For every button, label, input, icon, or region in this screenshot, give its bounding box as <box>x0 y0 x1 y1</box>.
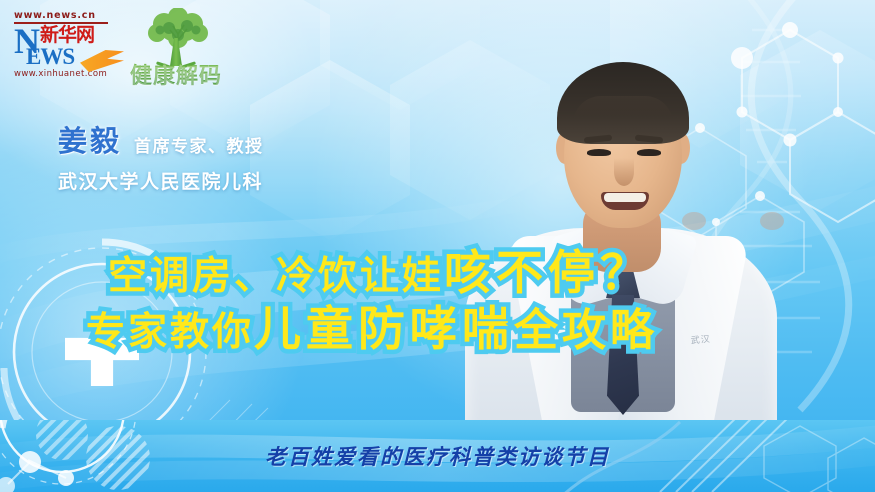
tagline: 老百姓爱看的医疗科普类访谈节目 <box>265 441 610 471</box>
cheek-left <box>682 212 706 230</box>
eye-left <box>587 149 611 156</box>
expert-info: 姜毅 首席专家、教授 武汉大学人民医院儿科 <box>58 128 264 194</box>
hair <box>557 62 689 144</box>
teeth <box>604 193 646 202</box>
expert-name-row: 姜毅 首席专家、教授 <box>58 128 264 157</box>
xinhua-logo[interactable]: www.news.cn N 新华网 EWS www.xinhuanet.com <box>14 10 110 78</box>
tagline-wrap: 老百姓爱看的医疗科普类访谈节目 <box>0 420 875 492</box>
bottom-band: 老百姓爱看的医疗科普类访谈节目 <box>0 420 875 492</box>
xinhua-chinese-name: 新华网 <box>40 26 94 45</box>
eye-right <box>637 149 661 156</box>
headline-seg-emphasis: 儿童防哮喘 <box>254 305 514 352</box>
xinhua-wordmark: N 新华网 EWS <box>14 24 110 68</box>
nose <box>614 158 634 186</box>
headline-seg: 空调房、冷饮让娃 <box>108 257 444 296</box>
headline-line-2: 专家教你 儿童防哮喘 全攻略 <box>86 305 808 353</box>
expert-title: 首席专家、教授 <box>134 138 264 157</box>
poster-canvas: 武汉 www.news.cn N 新华网 EWS www.xinhuanet.c… <box>0 0 875 492</box>
headline-line-1: 空调房、冷饮让娃 咳不停？ <box>108 249 808 296</box>
headline-seg: 专家教你 <box>86 313 254 352</box>
headline-seg: 全攻略 <box>514 309 658 353</box>
xinhua-bottom-url: www.xinhuanet.com <box>14 69 110 79</box>
headline-seg-emphasis: 咳不停？ <box>444 249 652 296</box>
program-logo[interactable]: 健康解码 <box>118 8 234 86</box>
program-name: 健康解码 <box>118 58 234 90</box>
headline: 空调房、冷饮让娃 咳不停？ 专家教你 儿童防哮喘 全攻略 <box>108 249 808 353</box>
cheek-right <box>760 212 784 230</box>
mouth <box>601 192 649 210</box>
expert-name: 姜毅 <box>58 128 122 157</box>
expert-affiliation: 武汉大学人民医院儿科 <box>58 167 264 194</box>
xinhua-letters-ews: EWS <box>26 46 74 68</box>
xinhua-top-url: www.news.cn <box>14 10 110 21</box>
